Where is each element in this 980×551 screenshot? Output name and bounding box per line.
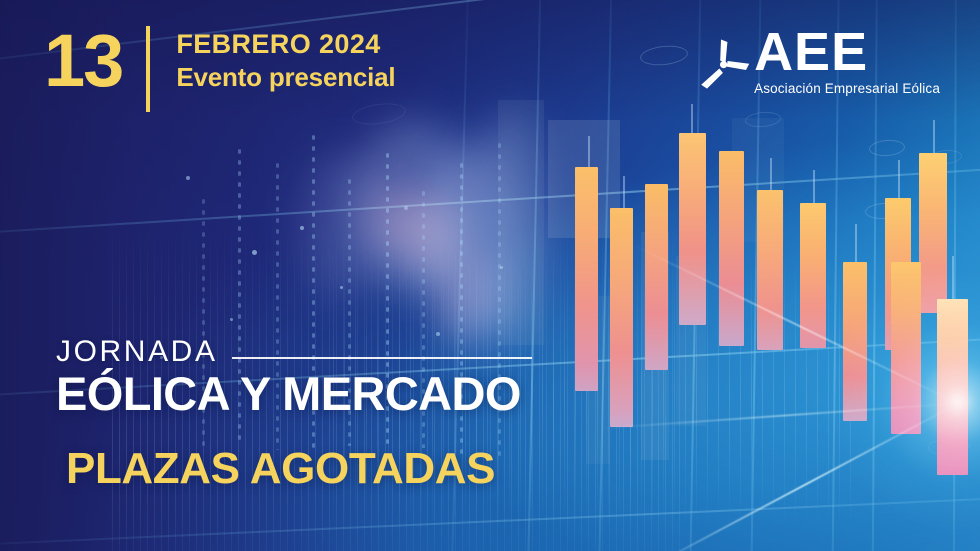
aee-logo[interactable]: AEE Asociación Empresarial Eólica: [694, 30, 940, 99]
kicker-rule: [232, 357, 532, 359]
headline-title: EÓLICA Y MERCADO: [56, 369, 676, 419]
headline-kicker: JORNADA: [56, 335, 218, 368]
aee-logo-text: AEE Asociación Empresarial Eólica: [754, 30, 940, 96]
wind-turbine-icon: [694, 36, 752, 99]
event-month-year: FEBRERO 2024: [176, 28, 395, 61]
date-text-group: FEBRERO 2024 Evento presencial: [176, 22, 395, 94]
event-date-block: 13 FEBRERO 2024 Evento presencial: [44, 22, 395, 112]
aee-full-name: Asociación Empresarial Eólica: [754, 82, 940, 96]
headline-block: JORNADA EÓLICA Y MERCADO PLAZAS AGOTADAS: [56, 335, 676, 493]
kicker-row: JORNADA: [56, 335, 676, 368]
banner-content: 13 FEBRERO 2024 Evento presencial: [0, 0, 980, 551]
event-day-number: 13: [44, 26, 122, 96]
date-divider: [146, 26, 150, 112]
event-promo-banner: 13 FEBRERO 2024 Evento presencial: [0, 0, 980, 551]
event-format-label: Evento presencial: [176, 61, 395, 94]
aee-acronym: AEE: [754, 30, 940, 75]
status-badge: PLAZAS AGOTADAS: [56, 445, 676, 493]
